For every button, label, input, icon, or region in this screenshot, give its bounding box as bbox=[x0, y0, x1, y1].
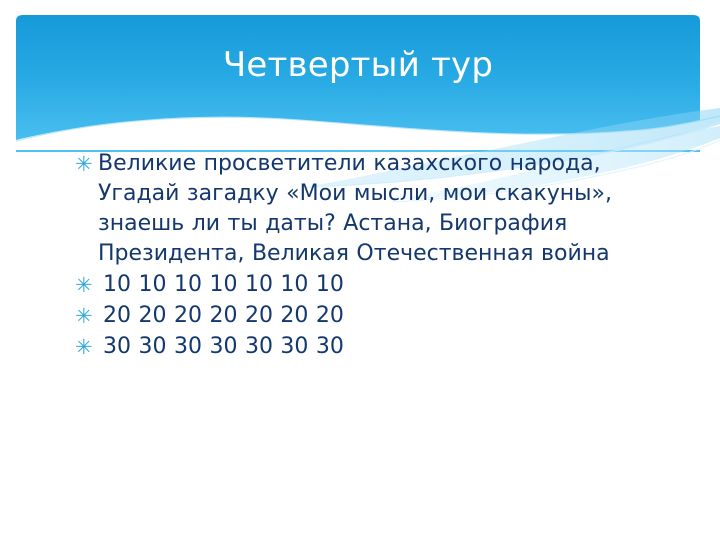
list-item-text: 30 30 30 30 30 30 30 bbox=[98, 332, 672, 362]
list-item-text: 20 20 20 20 20 20 20 bbox=[98, 301, 672, 331]
list-item: ✳ 10 10 10 10 10 10 10 bbox=[72, 270, 672, 300]
header-wave-cutout bbox=[16, 117, 700, 152]
slide-body-list: ✳ Великие просветители казахского народа… bbox=[72, 149, 672, 363]
slide-title: Четвертый тур bbox=[16, 44, 700, 86]
asterisk-bullet-icon: ✳ bbox=[72, 270, 98, 300]
list-item: ✳ 30 30 30 30 30 30 30 bbox=[72, 332, 672, 362]
presentation-slide: Четвертый тур ✳ Великие просветители каз… bbox=[0, 0, 720, 540]
page-title: Четвертый тур bbox=[223, 44, 493, 86]
asterisk-bullet-icon: ✳ bbox=[72, 301, 98, 331]
asterisk-bullet-icon: ✳ bbox=[72, 332, 98, 362]
asterisk-bullet-icon: ✳ bbox=[72, 149, 98, 179]
list-item-text: 10 10 10 10 10 10 10 bbox=[98, 270, 672, 300]
list-item: ✳ Великие просветители казахского народа… bbox=[72, 149, 672, 269]
list-item-text: Великие просветители казахского народа, … bbox=[98, 149, 628, 269]
list-item: ✳ 20 20 20 20 20 20 20 bbox=[72, 301, 672, 331]
wave-crest-line bbox=[16, 116, 720, 141]
